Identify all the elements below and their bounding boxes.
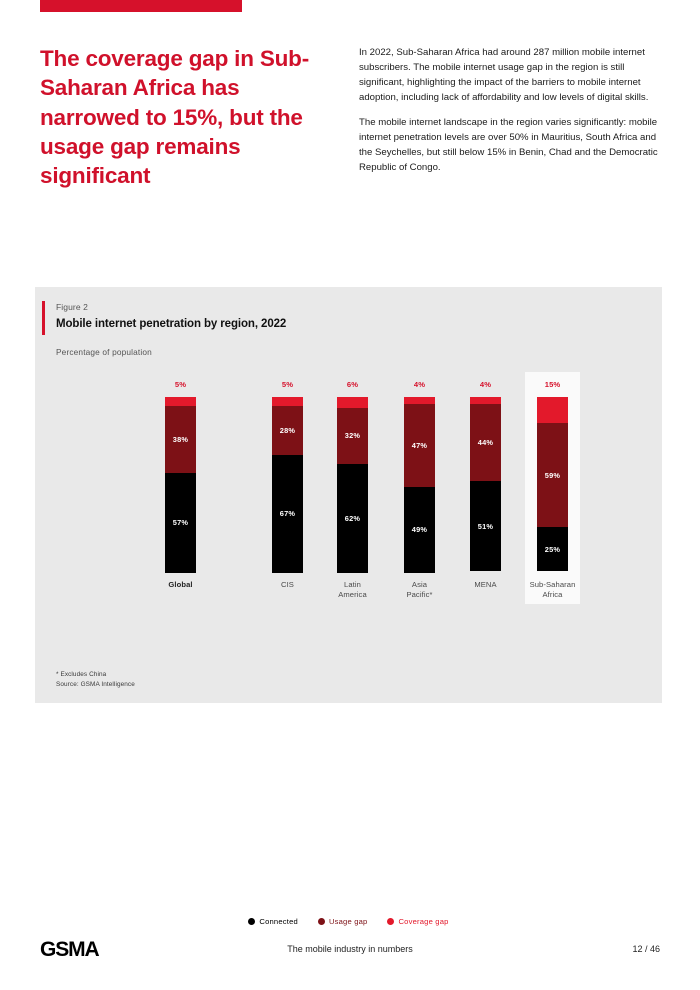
bar-segment-label: 38%: [173, 436, 188, 443]
figure-footnote-2: Source: GSMA Intelligence: [56, 680, 135, 690]
intro-copy: In 2022, Sub-Saharan Africa had around 2…: [359, 46, 663, 176]
bar-segment-connected: 49%: [404, 487, 435, 573]
chart-legend: ConnectedUsage gapCoverage gap: [35, 917, 662, 926]
legend-label: Connected: [259, 917, 298, 926]
bar-segment-connected: 51%: [470, 481, 501, 571]
bar-stack: 44%51%: [470, 397, 501, 573]
bar-stack: 38%57%: [165, 397, 196, 573]
legend-item[interactable]: Usage gap: [318, 917, 368, 926]
bar-segment-label: 32%: [345, 432, 360, 439]
bar-stack: 28%67%: [272, 397, 303, 573]
bar-category-label: CIS: [255, 580, 320, 590]
footer-section-title: The mobile industry in numbers: [0, 944, 700, 954]
figure-panel: Figure 2 Mobile internet penetration by …: [35, 287, 662, 703]
bar-segment-usage-gap: 28%: [272, 406, 303, 455]
figure-footnote-1: * Excludes China: [56, 670, 135, 680]
intro-paragraph-1: In 2022, Sub-Saharan Africa had around 2…: [359, 46, 663, 105]
bar-segment-label: 57%: [173, 519, 188, 526]
bar-segment-label: 44%: [478, 439, 493, 446]
legend-label: Usage gap: [329, 917, 368, 926]
bar-segment-coverage-gap: [272, 397, 303, 406]
legend-swatch-icon: [248, 918, 255, 925]
bar-category-label: MENA: [453, 580, 518, 590]
bar-category-label: Global: [148, 580, 213, 590]
bar-segment-connected: 25%: [537, 527, 568, 571]
legend-label: Coverage gap: [398, 917, 448, 926]
bar-segment-label: 28%: [280, 427, 295, 434]
bar-segment-coverage-gap: [337, 397, 368, 408]
bar-segment-coverage-gap: [165, 397, 196, 406]
bar-segment-usage-gap: 44%: [470, 404, 501, 481]
legend-swatch-icon: [318, 918, 325, 925]
bar-segment-label: 47%: [412, 442, 427, 449]
bar-segment-coverage-gap: [537, 397, 568, 423]
coverage-gap-top-label: 4%: [459, 380, 512, 389]
bar-stack: 32%62%: [337, 397, 368, 573]
legend-item[interactable]: Coverage gap: [387, 917, 448, 926]
bar-segment-connected: 57%: [165, 473, 196, 573]
bar-segment-label: 59%: [545, 472, 560, 479]
page: The coverage gap in Sub-Saharan Africa h…: [0, 0, 700, 990]
bar-category-label: LatinAmerica: [320, 580, 385, 601]
coverage-gap-top-label: 5%: [261, 380, 314, 389]
coverage-gap-top-label: 4%: [393, 380, 446, 389]
bar-category-label: AsiaPacific*: [387, 580, 452, 601]
figure-footnotes: * Excludes China Source: GSMA Intelligen…: [56, 670, 135, 691]
intro-paragraph-2: The mobile internet landscape in the reg…: [359, 116, 663, 175]
bar-segment-connected: 67%: [272, 455, 303, 573]
bar-segment-label: 25%: [545, 546, 560, 553]
bar-category-label: Sub-SaharanAfrica: [520, 580, 585, 601]
bar-segment-label: 67%: [280, 510, 295, 517]
bar-stack: 47%49%: [404, 397, 435, 573]
coverage-gap-top-label: 6%: [326, 380, 379, 389]
bar-segment-usage-gap: 59%: [537, 423, 568, 527]
chart-plot-area: 5%38%57%Global5%28%67%CIS6%32%62%LatinAm…: [35, 287, 662, 703]
bar-segment-label: 62%: [345, 515, 360, 522]
bar-segment-coverage-gap: [470, 397, 501, 404]
bar-stack: 59%25%: [537, 397, 568, 573]
bar-segment-label: 51%: [478, 523, 493, 530]
top-red-rule: [40, 0, 242, 12]
bar-segment-usage-gap: 38%: [165, 406, 196, 473]
legend-item[interactable]: Connected: [248, 917, 298, 926]
legend-swatch-icon: [387, 918, 394, 925]
bar-segment-usage-gap: 47%: [404, 404, 435, 487]
coverage-gap-top-label: 15%: [526, 380, 579, 389]
bar-segment-label: 49%: [412, 526, 427, 533]
bar-segment-connected: 62%: [337, 464, 368, 573]
bar-segment-usage-gap: 32%: [337, 408, 368, 464]
footer-page-number: 12 / 46: [632, 944, 660, 954]
bar-segment-coverage-gap: [404, 397, 435, 404]
page-headline: The coverage gap in Sub-Saharan Africa h…: [40, 44, 340, 190]
coverage-gap-top-label: 5%: [154, 380, 207, 389]
